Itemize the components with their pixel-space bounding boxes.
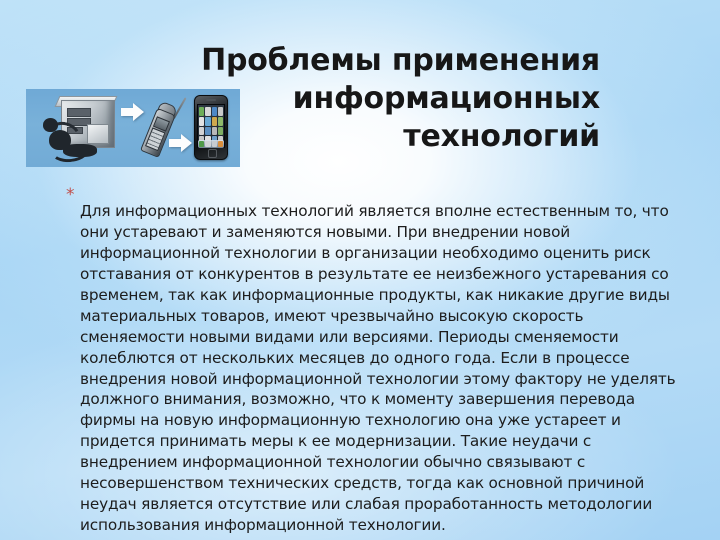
mobile-phone-icon bbox=[122, 89, 202, 167]
slide-canvas: Проблемы применения информационных техно… bbox=[0, 0, 720, 540]
asterisk-bullet-icon: * bbox=[66, 185, 80, 206]
server-computer-icon bbox=[43, 94, 121, 160]
bullet-list-item: * Для информационных технологий является… bbox=[66, 186, 688, 540]
smartphone-dock bbox=[198, 140, 224, 148]
smartphone-icon bbox=[194, 95, 228, 160]
content-body: * Для информационных технологий является… bbox=[66, 186, 688, 540]
illustration-row bbox=[26, 89, 240, 167]
body-paragraph: Для информационных технологий является в… bbox=[80, 201, 688, 536]
home-button-icon bbox=[208, 149, 217, 158]
page-title: Проблемы применения информационных техно… bbox=[196, 42, 600, 156]
arrow-right-icon-2 bbox=[169, 134, 193, 152]
illustration-image bbox=[26, 89, 240, 167]
